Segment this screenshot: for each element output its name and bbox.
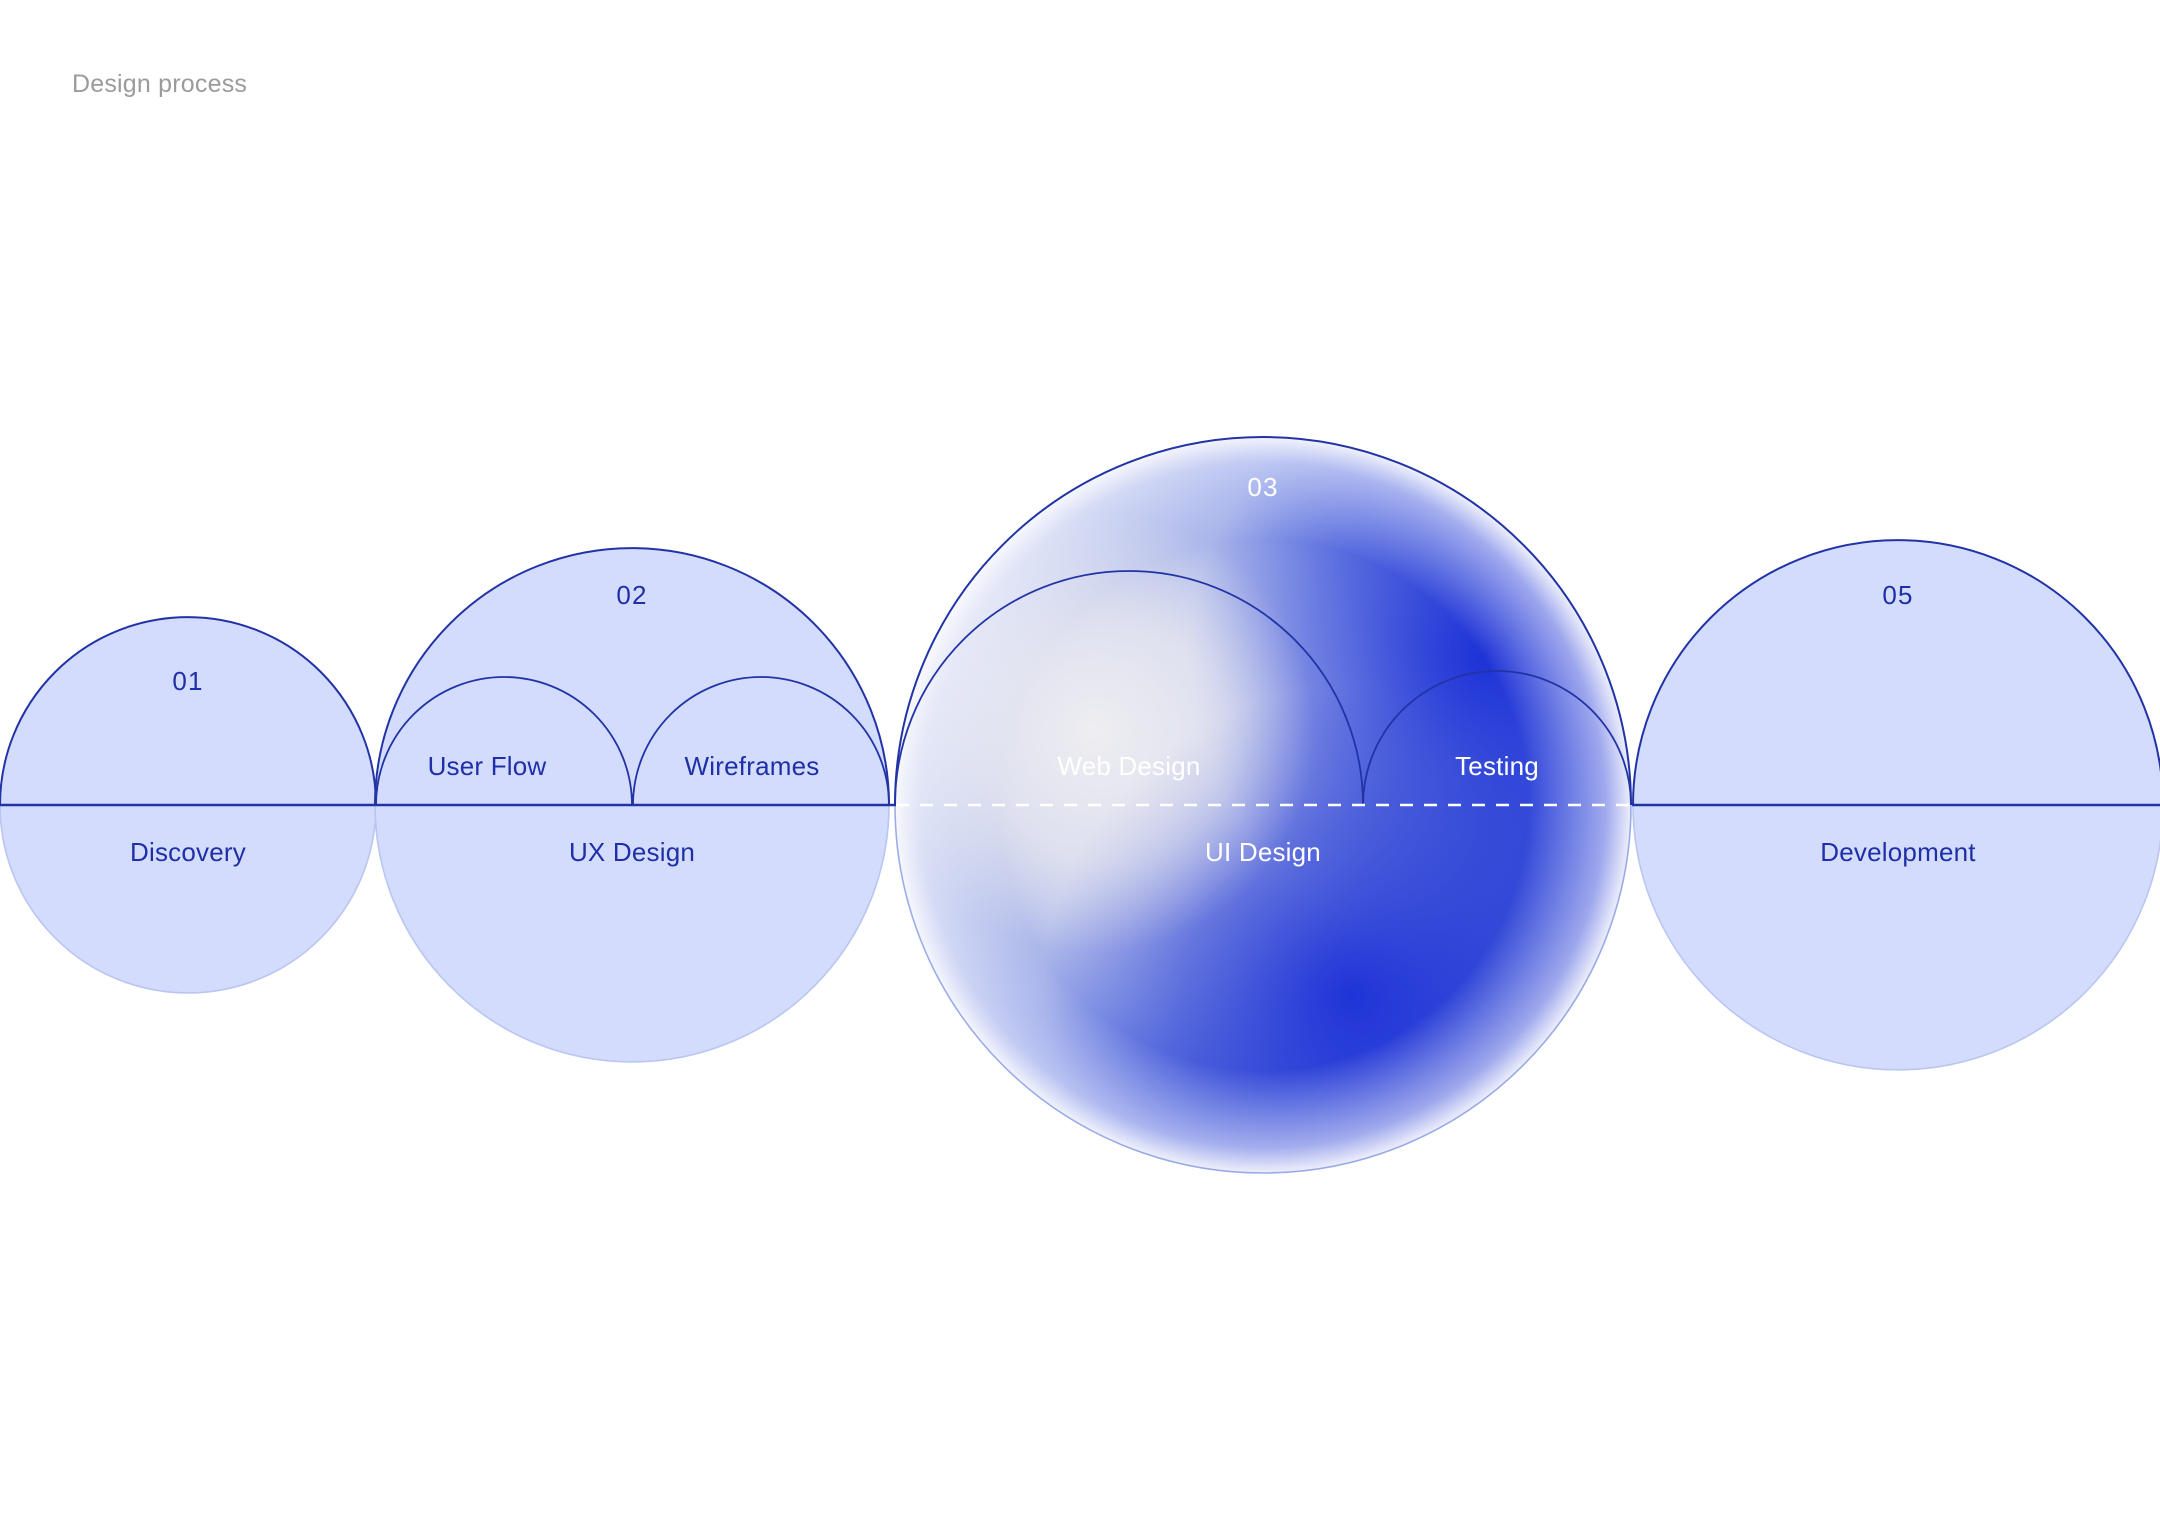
- stage-development-name: Development: [1820, 837, 1976, 867]
- substep-wireframes-label: Wireframes: [685, 751, 820, 781]
- stage-ui-design-name: UI Design: [1205, 837, 1321, 867]
- substep-testing-label: Testing: [1455, 751, 1539, 781]
- substep-user-flow-label: User Flow: [428, 751, 547, 781]
- stage-discovery-number: 01: [172, 666, 203, 696]
- design-process-canvas: Design process: [0, 0, 2160, 1531]
- stage-development-number: 05: [1882, 580, 1913, 610]
- stage-discovery-name: Discovery: [130, 837, 246, 867]
- stage-ux-design-number: 02: [616, 580, 647, 610]
- substep-web-design-label: Web Design: [1057, 751, 1200, 781]
- design-process-diagram: 01 Discovery 02 User Flow Wireframes UX …: [0, 0, 2160, 1531]
- stage-ux-design-name: UX Design: [569, 837, 695, 867]
- stage-ui-design-number: 03: [1247, 472, 1278, 502]
